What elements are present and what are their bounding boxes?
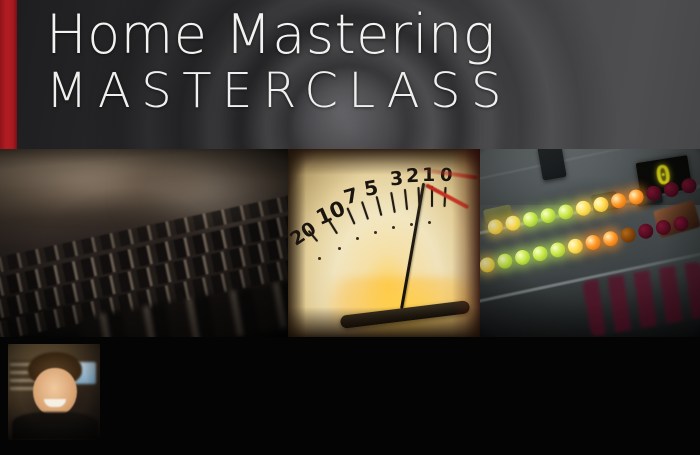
- vu-bezel-bottom: [288, 307, 480, 337]
- vu-minor-dot: [356, 237, 359, 240]
- vu-minor-dot: [392, 226, 395, 229]
- vu-minor-dot: [318, 257, 321, 260]
- red-accent-bar: [0, 0, 17, 149]
- vu-tick: [390, 192, 396, 213]
- vu-minor-dot: [428, 221, 431, 224]
- page-title-line2: MASTERCLASS: [46, 62, 512, 120]
- led-vignette: [480, 149, 700, 337]
- vu-minor-dot: [338, 247, 341, 250]
- avatar-vignette: [8, 344, 100, 440]
- page-title-line1: Home Mastering: [46, 4, 512, 66]
- led-meter-photo: 0: [480, 149, 700, 337]
- title-block: Home Mastering MASTERCLASS: [46, 4, 512, 120]
- vu-number-7: 7: [341, 183, 361, 210]
- image-strip: 20 10 7 5 3 2 1 0: [0, 149, 700, 337]
- vu-tick: [376, 196, 383, 216]
- vu-meter-photo: 20 10 7 5 3 2 1 0: [288, 149, 480, 337]
- banner-footer: Learn how to get great results mastering…: [0, 337, 700, 455]
- banner-header: Home Mastering MASTERCLASS: [0, 0, 700, 149]
- vu-minor-dot: [374, 231, 377, 234]
- promo-banner: Home Mastering MASTERCLASS 20 10 7: [0, 0, 700, 455]
- vu-tick: [361, 201, 369, 220]
- presenter-photo: [8, 344, 100, 440]
- vu-tick: [404, 189, 408, 210]
- vu-minor-dot: [410, 223, 413, 226]
- mixing-console-photo: [0, 149, 288, 337]
- vu-scale: 20 10 7 5 3 2 1 0: [292, 163, 478, 283]
- desk-vignette: [0, 149, 288, 337]
